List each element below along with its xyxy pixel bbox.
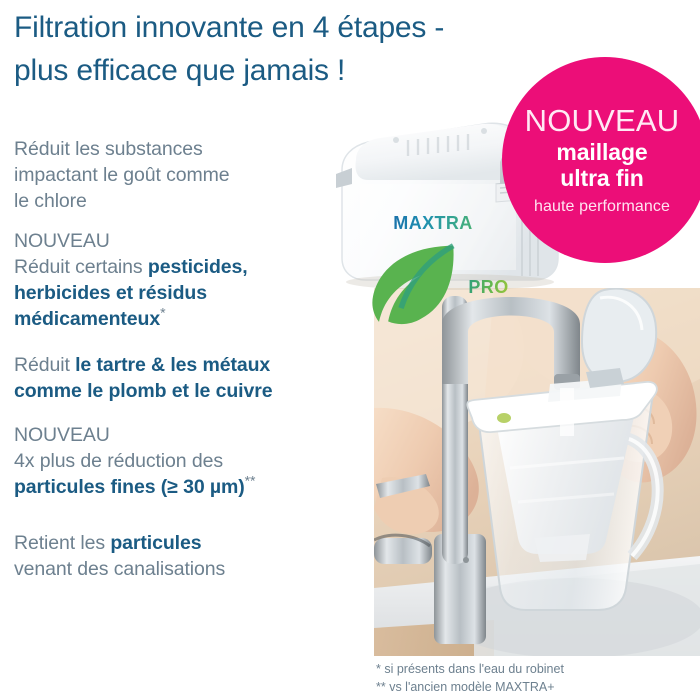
- footnote-mark-2: **: [245, 473, 256, 489]
- claim-pesticides-bold-1: pesticides,: [148, 256, 248, 278]
- logo-maxtra-text: MAXTRA: [378, 214, 488, 233]
- badge-main-line-2: ultra fin: [560, 165, 643, 191]
- badge-nouveau-label: NOUVEAU: [525, 104, 680, 137]
- badge-main-line-1: maillage: [556, 139, 647, 165]
- kitchen-scene-illustration: [374, 288, 700, 656]
- claim-taste-line-3: le chlore: [14, 190, 87, 212]
- claim-particles-lead: Retient les: [14, 532, 110, 554]
- claim-particles-line-2: venant des canalisations: [14, 558, 225, 580]
- headline-line-1: Filtration innovante en 4 étapes -: [14, 6, 534, 49]
- claim-particles-bold-1: particules: [110, 532, 201, 554]
- leaf-icon: [357, 232, 467, 342]
- claim-taste-line-1: Réduit les substances: [14, 138, 203, 160]
- claim-fine-particles-bold-1: particules fines (≥ 30 µm): [14, 476, 245, 498]
- badge-subtitle: haute performance: [534, 197, 670, 217]
- footnote-mark-1: *: [160, 305, 165, 321]
- claim-pesticides-lead: Réduit certains: [14, 256, 148, 278]
- claim-limescale: Réduit le tartre & les métaux comme le p…: [14, 352, 354, 404]
- claim-limescale-lead: Réduit: [14, 354, 75, 376]
- claim-particles: Retient les particules venant des canali…: [14, 530, 354, 582]
- claims-list: Réduit les substances impactant le goût …: [14, 136, 354, 596]
- claim-taste-line-2: impactant le goût comme: [14, 164, 230, 186]
- promo-banner: MAXTRA PRO Filtration innovante en 4 éta…: [0, 0, 700, 700]
- claim-pesticides-bold-3: médicamenteux: [14, 308, 160, 330]
- nouveau-tag-fine-particles: NOUVEAU: [14, 422, 354, 448]
- logo-pro-text: PRO: [468, 278, 508, 297]
- new-feature-badge: NOUVEAU maillage ultra fin haute perform…: [502, 57, 700, 263]
- footnote-2: ** vs l'ancien modèle MAXTRA+: [376, 678, 696, 696]
- claim-fine-particles: NOUVEAU 4x plus de réduction des particu…: [14, 422, 354, 500]
- claim-taste: Réduit les substances impactant le goût …: [14, 136, 354, 214]
- footnotes: * si présents dans l'eau du robinet ** v…: [376, 660, 696, 696]
- claim-limescale-bold-2: comme le plomb et le cuivre: [14, 380, 272, 402]
- nouveau-tag-pesticides: NOUVEAU: [14, 228, 354, 254]
- footnote-1: * si présents dans l'eau du robinet: [376, 660, 696, 678]
- claim-fine-particles-lead: 4x plus de réduction des: [14, 450, 223, 472]
- claim-pesticides-bold-2: herbicides et résidus: [14, 282, 207, 304]
- claim-pesticides: NOUVEAU Réduit certains pesticides, herb…: [14, 228, 354, 332]
- product-photo: [374, 288, 700, 656]
- headline-line-2: plus efficace que jamais !: [14, 49, 534, 92]
- page-title: Filtration innovante en 4 étapes - plus …: [14, 6, 534, 92]
- claim-limescale-bold-1: le tartre & les métaux: [75, 354, 270, 376]
- maxtra-pro-logo: MAXTRA PRO: [378, 214, 488, 342]
